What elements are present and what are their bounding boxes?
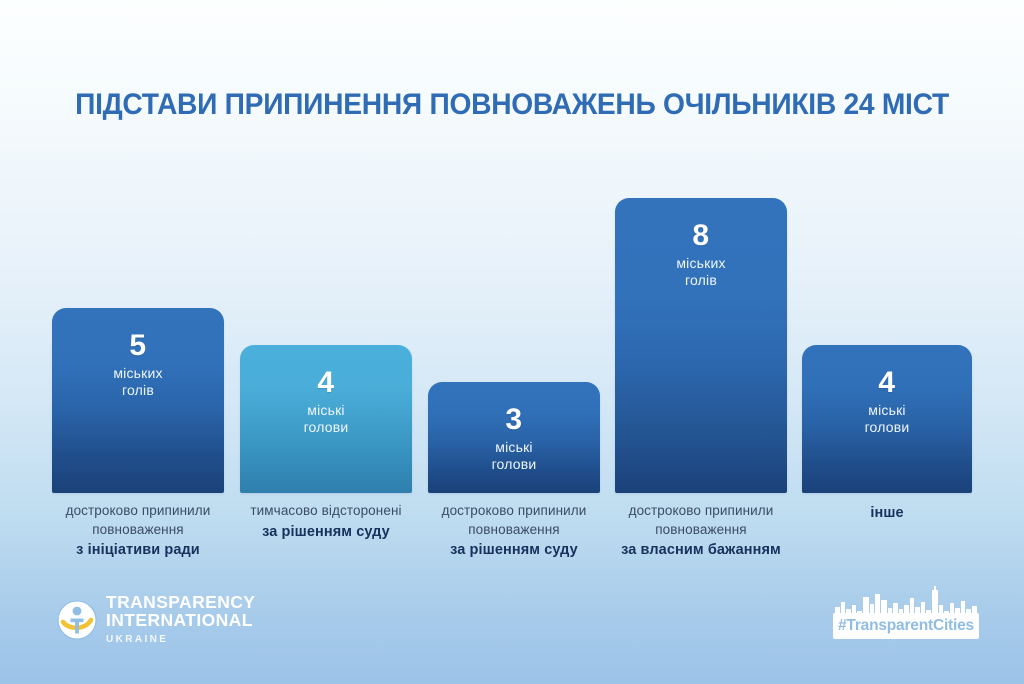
bar-unit-line2-3: голів	[685, 272, 717, 288]
transparent-cities-hashtag: #TransparentCities	[833, 613, 979, 639]
bar-caption-line1-0: достроково припинили	[66, 503, 211, 518]
ti-logo-line3: UKRAINE	[106, 634, 168, 645]
bar-caption-strong-3: за власним бажанням	[601, 540, 801, 560]
bar-unit-line1-0: міських	[113, 365, 162, 381]
bar-caption-strong-1: за рішенням суду	[226, 522, 426, 542]
bar-unit-3: міських голів	[615, 255, 787, 290]
bar-caption-strong-2: за рішенням суду	[416, 540, 612, 560]
bar-caption-1: тимчасово відсторонені за рішенням суду	[226, 502, 426, 542]
bar-value-3: 8	[615, 220, 787, 252]
bar-caption-line2-3: повноваження	[655, 522, 746, 537]
bar-caption-3: достроково припинили повноваження за вла…	[601, 502, 801, 560]
bar-2: 3 міські голови	[428, 382, 600, 493]
bar-unit-line2-0: голів	[122, 382, 154, 398]
bar-unit-line1-4: міські	[868, 402, 905, 418]
bar-1: 4 міські голови	[240, 345, 412, 493]
bar-value-1: 4	[240, 367, 412, 399]
ti-logo-line1: TRANSPARENCY	[106, 592, 255, 612]
bar-caption-0: достроково припинили повноваження з ініц…	[32, 502, 244, 560]
bar-unit-line2-1: голови	[304, 419, 349, 435]
bar-unit-line1-3: міських	[676, 255, 725, 271]
transparent-cities-logo: #TransparentCities	[833, 585, 979, 647]
transparency-international-wordmark: TRANSPARENCY INTERNATIONAL UKRAINE	[106, 594, 255, 646]
bar-unit-4: міські голови	[802, 402, 972, 437]
bar-caption-strong-4: інше	[795, 503, 979, 523]
bar-unit-line1-2: міські	[495, 439, 532, 455]
bar-caption-line2-0: повноваження	[92, 522, 183, 537]
bar-caption-4: інше	[795, 502, 979, 523]
bar-unit-line2-2: голови	[492, 456, 537, 472]
bar-0: 5 міських голів	[52, 308, 224, 493]
bar-unit-2: міські голови	[428, 439, 600, 474]
bar-unit-line1-1: міські	[307, 402, 344, 418]
bar-caption-line1-1: тимчасово	[250, 503, 317, 518]
transparency-international-emblem-icon	[57, 600, 97, 640]
transparency-international-ukraine-logo: TRANSPARENCY INTERNATIONAL UKRAINE	[57, 592, 272, 648]
bar-caption-line2-1: відсторонені	[322, 503, 402, 518]
bar-unit-0: міських голів	[52, 365, 224, 400]
bar-caption-line1-3: достроково припинили	[629, 503, 774, 518]
bar-caption-line2-2: повноваження	[468, 522, 559, 537]
bar-4: 4 міські голови	[802, 345, 972, 493]
bar-value-4: 4	[802, 367, 972, 399]
bar-3: 8 міських голів	[615, 198, 787, 493]
bar-caption-strong-0: з ініціативи ради	[32, 540, 244, 560]
bar-value-2: 3	[428, 404, 600, 436]
bar-unit-1: міські голови	[240, 402, 412, 437]
bar-chart: 5 міських голів достроково припинили пов…	[0, 0, 1024, 684]
bar-value-0: 5	[52, 330, 224, 362]
bar-caption-line1-2: достроково припинили	[442, 503, 587, 518]
bar-unit-line2-4: голови	[865, 419, 910, 435]
ti-logo-line2: INTERNATIONAL	[106, 610, 253, 630]
bar-caption-2: достроково припинили повноваження за ріш…	[416, 502, 612, 560]
